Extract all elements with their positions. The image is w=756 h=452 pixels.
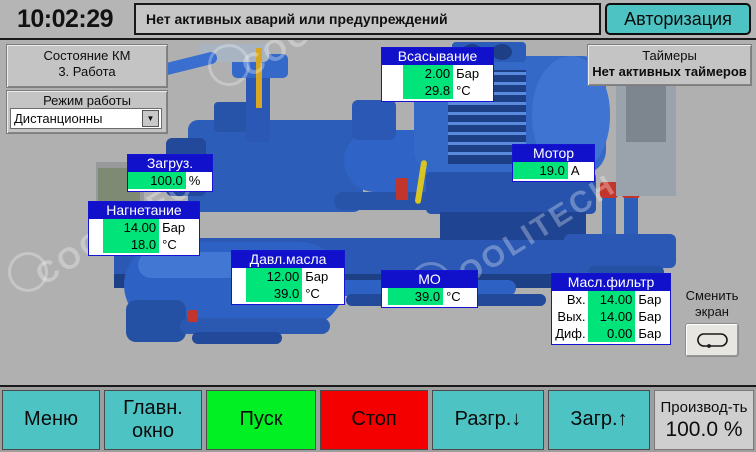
suction-temperature-row: 29.8 °C xyxy=(382,82,493,99)
capacity-value: 100.0 xyxy=(665,418,718,441)
main-window-button-label: Главн. окно xyxy=(123,397,183,443)
oil-filter-widget[interactable]: Масл.фильтр Вх. 14.00 Бар Вых. 14.00 Бар… xyxy=(551,273,671,345)
oil-filter-diff-row: Диф. 0.00 Бар xyxy=(552,325,670,342)
load-step-button-label: Загр.↑ xyxy=(570,408,627,431)
oil-filter-outlet-row: Вых. 14.00 Бар xyxy=(552,308,670,325)
load-unit: % xyxy=(186,172,212,189)
oil-filter-diff-label: Диф. xyxy=(552,325,588,342)
suction-temperature-value: 29.8 xyxy=(403,82,453,99)
mo-unit: °C xyxy=(443,288,477,305)
alarm-message-bar[interactable]: Нет активных аварий или предупреждений xyxy=(134,3,601,35)
capacity-indicator: Производ-ть 100.0 % xyxy=(654,390,754,450)
stop-button[interactable]: Стоп xyxy=(320,390,428,450)
motor-title: Мотор xyxy=(513,145,594,162)
oil-temperature-value: 39.0 xyxy=(246,285,302,302)
oil-filter-title: Масл.фильтр xyxy=(552,274,670,291)
discharge-widget[interactable]: Нагнетание 14.00 Бар 18.0 °C xyxy=(88,201,200,256)
alarm-message-text: Нет активных аварий или предупреждений xyxy=(146,11,448,27)
suction-widget[interactable]: Всасывание 2.00 Бар 29.8 °C xyxy=(381,47,494,102)
discharge-temperature-row: 18.0 °C xyxy=(89,236,199,253)
oil-filter-diff-value: 0.00 xyxy=(588,325,636,342)
start-button-label: Пуск xyxy=(240,408,283,431)
oil-filter-diff-unit: Бар xyxy=(635,325,670,342)
authorization-button[interactable]: Авторизация xyxy=(605,3,751,35)
discharge-pressure-value: 14.00 xyxy=(103,219,159,236)
load-value-row: 100.0 % xyxy=(128,172,212,189)
capacity-unit: % xyxy=(724,418,743,441)
change-screen-control: Сменить экран xyxy=(672,288,752,357)
oil-filter-inlet-label: Вх. xyxy=(552,291,588,308)
main-window-button[interactable]: Главн. окно xyxy=(104,390,202,450)
start-button[interactable]: Пуск xyxy=(206,390,316,450)
top-status-bar: 10:02:29 Нет активных аварий или предупр… xyxy=(0,0,756,40)
suction-title: Всасывание xyxy=(382,48,493,65)
unload-button[interactable]: Разгр.↓ xyxy=(432,390,544,450)
timers-panel: Таймеры Нет активных таймеров xyxy=(587,44,752,86)
authorization-button-label: Авторизация xyxy=(624,9,732,30)
load-step-button[interactable]: Загр.↑ xyxy=(548,390,650,450)
mo-value: 39.0 xyxy=(388,288,443,305)
main-mimic-area: COOLITECH COOLITECH COOLITECH Состояние … xyxy=(0,40,756,385)
stop-button-label: Стоп xyxy=(351,408,396,431)
oil-filter-outlet-value: 14.00 xyxy=(588,308,636,325)
oil-filter-inlet-unit: Бар xyxy=(635,291,670,308)
oil-temperature-row: 39.0 °C xyxy=(232,285,344,302)
timers-title: Таймеры xyxy=(588,48,751,64)
load-widget[interactable]: Загруз. 100.0 % xyxy=(127,154,213,192)
change-screen-button[interactable] xyxy=(685,323,739,357)
change-screen-label-line1: Сменить xyxy=(672,288,752,304)
compressor-status-panel: Состояние КМ 3. Работа xyxy=(6,44,168,88)
timers-value: Нет активных таймеров xyxy=(588,64,751,80)
oil-pressure-value-row: 12.00 Бар xyxy=(232,268,344,285)
suction-pressure-unit: Бар xyxy=(453,65,493,82)
bottom-button-bar: Меню Главн. окно Пуск Стоп Разгр.↓ Загр.… xyxy=(0,385,756,452)
oil-temperature-unit: °C xyxy=(302,285,344,302)
oil-filter-outlet-unit: Бар xyxy=(635,308,670,325)
motor-current-value: 19.0 xyxy=(513,162,568,179)
mo-widget[interactable]: МО 39.0 °C xyxy=(381,270,478,308)
menu-button[interactable]: Меню xyxy=(2,390,100,450)
oil-filter-inlet-value: 14.00 xyxy=(588,291,636,308)
menu-button-label: Меню xyxy=(24,408,78,431)
loop-arrow-icon xyxy=(695,331,729,349)
oil-pressure-unit: Бар xyxy=(302,268,344,285)
oil-pressure-title: Давл.масла xyxy=(232,251,344,268)
chevron-down-icon[interactable]: ▼ xyxy=(142,110,159,127)
discharge-pressure-unit: Бар xyxy=(159,219,199,236)
oil-pressure-value: 12.00 xyxy=(246,268,302,285)
load-value: 100.0 xyxy=(128,172,186,189)
suction-pressure-value: 2.00 xyxy=(403,65,453,82)
oil-pressure-widget[interactable]: Давл.масла 12.00 Бар 39.0 °C xyxy=(231,250,345,305)
clock-display: 10:02:29 xyxy=(0,5,130,34)
suction-temperature-unit: °C xyxy=(453,82,493,99)
motor-current-row: 19.0 A xyxy=(513,162,594,179)
mo-title: МО xyxy=(382,271,477,288)
oil-filter-inlet-row: Вх. 14.00 Бар xyxy=(552,291,670,308)
motor-widget[interactable]: Мотор 19.0 A xyxy=(512,144,595,182)
motor-current-unit: A xyxy=(568,162,594,179)
discharge-title: Нагнетание xyxy=(89,202,199,219)
compressor-status-title: Состояние КМ xyxy=(7,48,167,64)
capacity-value-row: 100.0 % xyxy=(665,417,742,442)
suction-pressure-row: 2.00 Бар xyxy=(382,65,493,82)
capacity-title: Производ-ть xyxy=(661,398,748,417)
change-screen-label-line2: экран xyxy=(672,304,752,320)
hmi-screen: 10:02:29 Нет активных аварий или предупр… xyxy=(0,0,756,452)
discharge-temperature-unit: °C xyxy=(159,236,199,253)
oil-filter-outlet-label: Вых. xyxy=(552,308,588,325)
operating-mode-select[interactable]: Дистанционны ▼ xyxy=(10,108,162,129)
operating-mode-title: Режим работы xyxy=(7,93,167,109)
operating-mode-selected-value: Дистанционны xyxy=(14,111,102,126)
discharge-temperature-value: 18.0 xyxy=(103,236,159,253)
mo-value-row: 39.0 °C xyxy=(382,288,477,305)
compressor-status-value: 3. Работа xyxy=(7,64,167,80)
unload-button-label: Разгр.↓ xyxy=(455,408,522,431)
watermark-ring-3 xyxy=(8,252,48,292)
discharge-pressure-row: 14.00 Бар xyxy=(89,219,199,236)
load-title: Загруз. xyxy=(128,155,212,172)
